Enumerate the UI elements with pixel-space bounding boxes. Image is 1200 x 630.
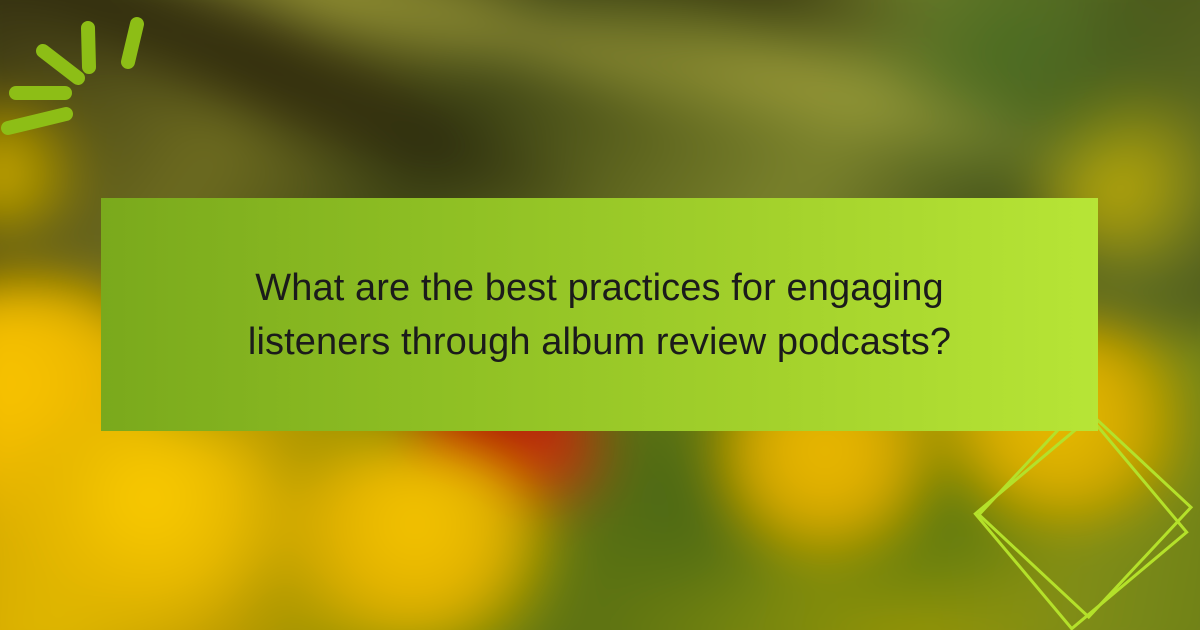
starburst-ray bbox=[88, 28, 89, 67]
decorative-square-front bbox=[975, 417, 1186, 628]
starburst-ray bbox=[43, 51, 78, 78]
decorative-square-back bbox=[979, 405, 1191, 617]
headline-panel: What are the best practices for engaging… bbox=[101, 198, 1098, 431]
page-title: What are the best practices for engaging… bbox=[220, 261, 980, 369]
background-flower-blob bbox=[0, 410, 300, 630]
starburst-ray bbox=[128, 24, 137, 62]
starburst-icon bbox=[0, 0, 200, 170]
rotated-squares-icon bbox=[970, 400, 1200, 630]
starburst-ray bbox=[8, 114, 66, 128]
